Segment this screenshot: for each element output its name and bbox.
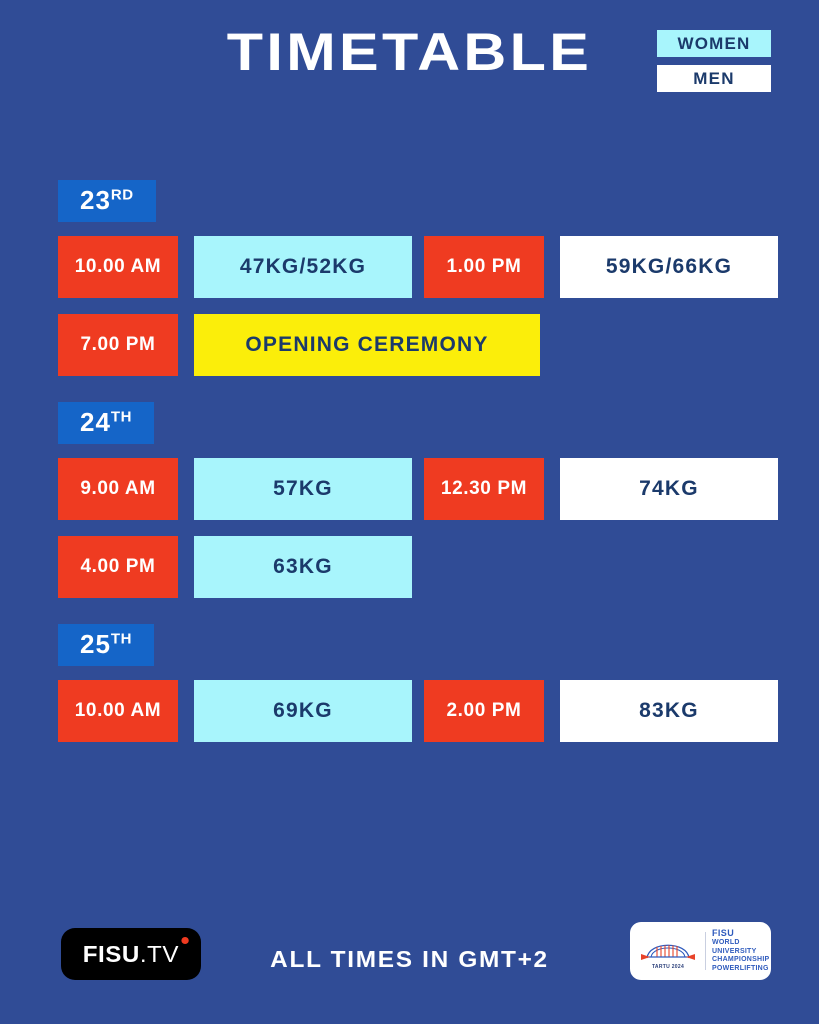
day-group: 23RD10.00 AM47KG/52KG1.00 PM59KG/66KG7.0… (58, 180, 772, 376)
event-chip-men: 74KG (560, 458, 778, 520)
date-number: 24 (80, 407, 111, 437)
day-group: 25TH10.00 AM69KG2.00 PM83KG (58, 624, 772, 742)
schedule-slot: 1.00 PM59KG/66KG (424, 236, 778, 298)
slot-gap (412, 458, 424, 520)
event-chip-women: 57KG (194, 458, 412, 520)
slot-gap (412, 680, 424, 742)
badge-org-name: FISU (712, 928, 769, 939)
date-ordinal: TH (111, 630, 132, 647)
schedule-slot: 7.00 PMOPENING CEREMONY (58, 314, 540, 376)
schedule-row: 9.00 AM57KG12.30 PM74KG (58, 458, 772, 520)
fisu-championship-badge: TARTU 2024 FISU WORLD UNIVERSITY CHAMPIO… (630, 922, 771, 980)
date-ordinal: TH (111, 408, 132, 425)
badge-line-university: UNIVERSITY (712, 948, 769, 957)
badge-line-world: WORLD (712, 939, 769, 948)
event-chip-men: 83KG (560, 680, 778, 742)
schedule-row: 7.00 PMOPENING CEREMONY (58, 314, 772, 376)
page-footer: FISU.TV ALL TIMES IN GMT+2 (0, 914, 819, 1024)
schedule-slot: 10.00 AM69KG (58, 680, 412, 742)
legend: WOMEN MEN (657, 30, 771, 100)
schedule-row: 10.00 AM69KG2.00 PM83KG (58, 680, 772, 742)
schedule-slot: 4.00 PM63KG (58, 536, 412, 598)
date-badge: 23RD (58, 180, 156, 222)
page-header: TIMETABLE WOMEN MEN (0, 0, 819, 120)
schedule-slot: 2.00 PM83KG (424, 680, 778, 742)
red-dot-icon (181, 937, 188, 944)
time-chip: 1.00 PM (424, 236, 544, 298)
legend-label-men: MEN (693, 69, 734, 89)
time-chip: 12.30 PM (424, 458, 544, 520)
event-chip-women: 69KG (194, 680, 412, 742)
time-chip: 4.00 PM (58, 536, 178, 598)
time-chip: 2.00 PM (424, 680, 544, 742)
legend-item-women: WOMEN (657, 30, 771, 57)
badge-line-championship: CHAMPIONSHIP (712, 956, 769, 965)
legend-label-women: WOMEN (677, 34, 750, 54)
event-chip-men: 59KG/66KG (560, 236, 778, 298)
date-number: 23 (80, 185, 111, 215)
schedule-slot: 9.00 AM57KG (58, 458, 412, 520)
slot-gap (412, 236, 424, 298)
date-badge: 25TH (58, 624, 154, 666)
badge-line-powerlifting: POWERLIFTING (712, 965, 769, 974)
time-chip: 10.00 AM (58, 680, 178, 742)
date-ordinal: RD (111, 186, 134, 203)
schedule-row: 4.00 PM63KG (58, 536, 772, 598)
barbell-logo-icon: TARTU 2024 (637, 933, 699, 970)
event-chip-women: 63KG (194, 536, 412, 598)
time-chip: 9.00 AM (58, 458, 178, 520)
date-badge: 24TH (58, 402, 154, 444)
time-chip: 10.00 AM (58, 236, 178, 298)
schedule-row: 10.00 AM47KG/52KG1.00 PM59KG/66KG (58, 236, 772, 298)
date-number: 25 (80, 629, 111, 659)
schedule: 23RD10.00 AM47KG/52KG1.00 PM59KG/66KG7.0… (58, 180, 772, 768)
legend-item-men: MEN (657, 65, 771, 92)
schedule-slot: 12.30 PM74KG (424, 458, 778, 520)
barbell-icon-svg (639, 933, 697, 963)
time-chip: 7.00 PM (58, 314, 178, 376)
day-group: 24TH9.00 AM57KG12.30 PM74KG4.00 PM63KG (58, 402, 772, 598)
schedule-slot: 10.00 AM47KG/52KG (58, 236, 412, 298)
event-chip-ceremony: OPENING CEREMONY (194, 314, 540, 376)
badge-divider (705, 932, 706, 970)
event-chip-women: 47KG/52KG (194, 236, 412, 298)
badge-host-city: TARTU 2024 (652, 964, 684, 970)
badge-text-block: FISU WORLD UNIVERSITY CHAMPIONSHIP POWER… (712, 928, 769, 973)
